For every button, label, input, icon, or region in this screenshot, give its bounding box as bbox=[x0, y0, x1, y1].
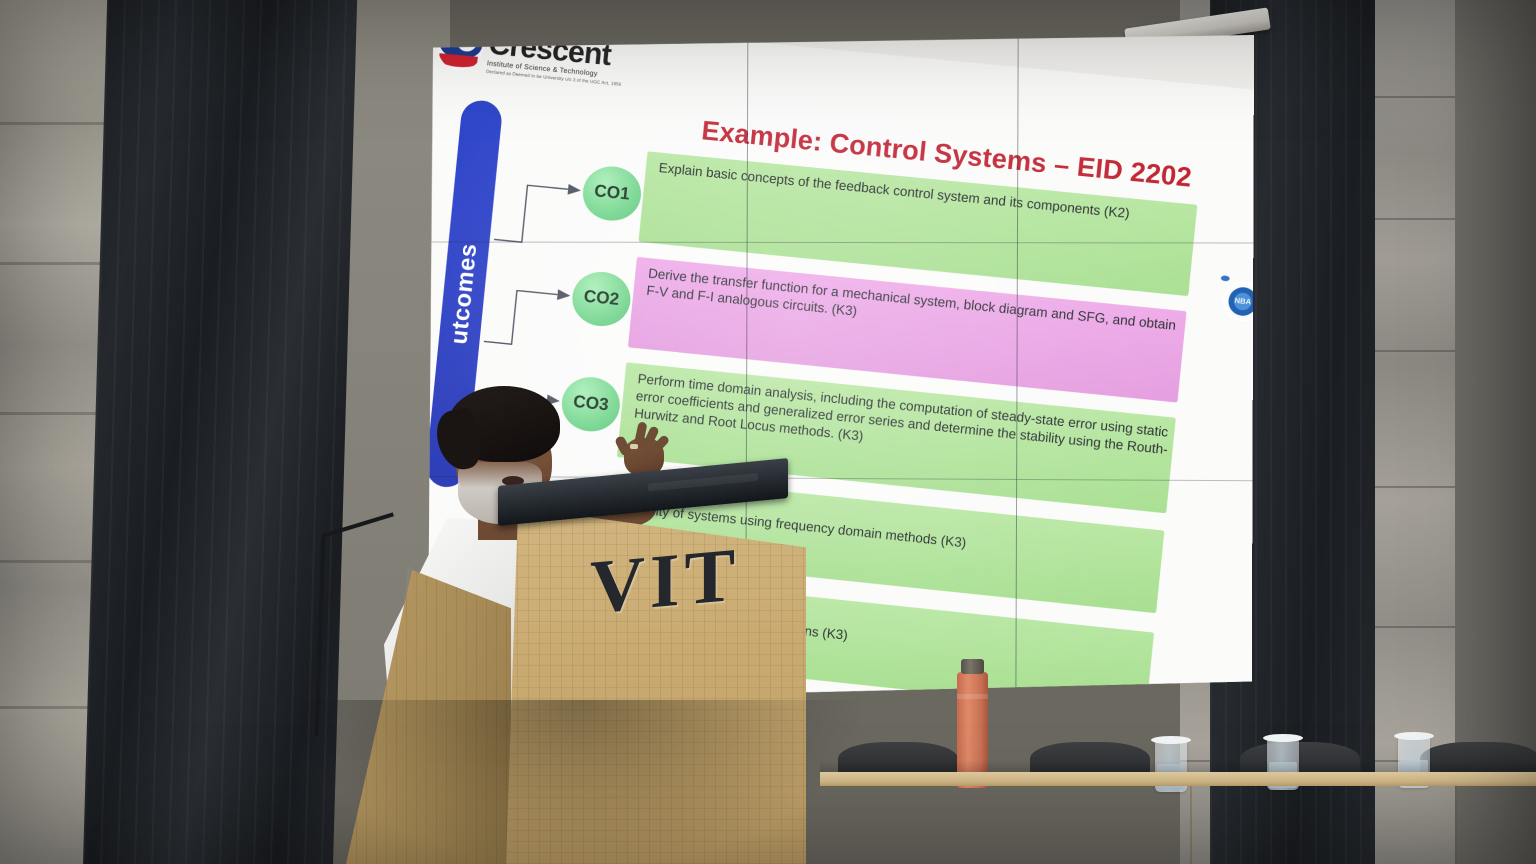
right-wall-edge bbox=[1455, 0, 1536, 864]
stage-floor-shadow bbox=[300, 700, 860, 864]
dais-table-front bbox=[820, 780, 1536, 864]
crescent-institute-logo: B.S. Abdur Rahman ® Crescent Institute o… bbox=[436, 23, 626, 86]
co-bubble-co2: CO2 bbox=[570, 269, 633, 329]
co-bubble-co1: CO1 bbox=[580, 164, 643, 223]
logo-superscript: B.S. Abdur Rahman ® bbox=[556, 33, 618, 45]
podium-venue-label: VIT bbox=[590, 531, 740, 631]
lecture-hall-scene: B.S. Abdur Rahman ® Crescent Institute o… bbox=[0, 0, 1536, 864]
